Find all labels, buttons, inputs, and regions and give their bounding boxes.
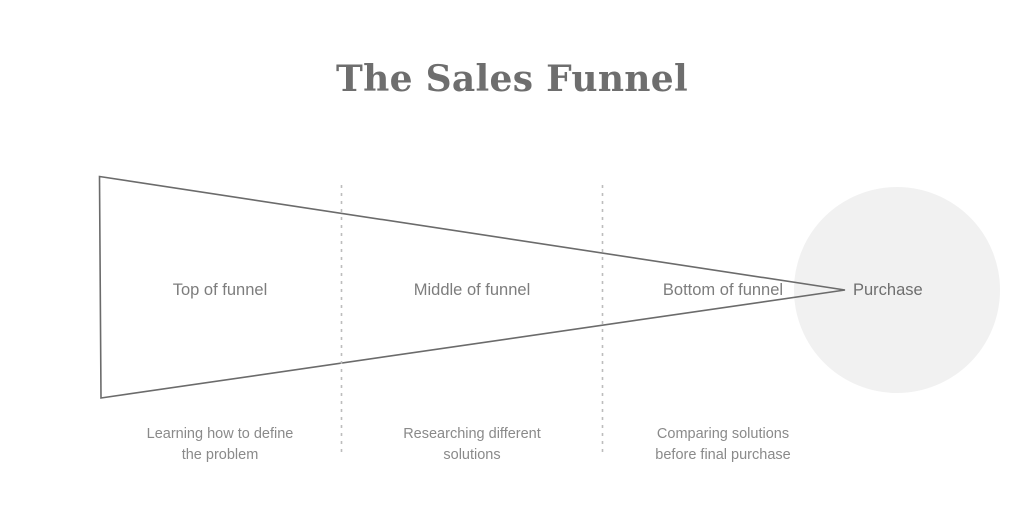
- caption-line-1: Researching different: [343, 424, 601, 445]
- caption-line-1: Learning how to define: [100, 424, 340, 445]
- stage-label-bottom-of-funnel: Bottom of funnel: [604, 281, 842, 300]
- stage-label-middle-of-funnel: Middle of funnel: [343, 281, 601, 300]
- stage-caption-top-of-funnel: Learning how to define the problem: [100, 424, 340, 466]
- caption-line-2: solutions: [343, 445, 601, 466]
- caption-line-1: Comparing solutions: [604, 424, 842, 445]
- stage-caption-middle-of-funnel: Researching different solutions: [343, 424, 601, 466]
- stage-caption-bottom-of-funnel: Comparing solutions before final purchas…: [604, 424, 842, 466]
- stage-label-top-of-funnel: Top of funnel: [100, 281, 340, 300]
- caption-line-2: the problem: [100, 445, 340, 466]
- caption-line-2: before final purchase: [604, 445, 842, 466]
- purchase-label: Purchase: [853, 281, 923, 300]
